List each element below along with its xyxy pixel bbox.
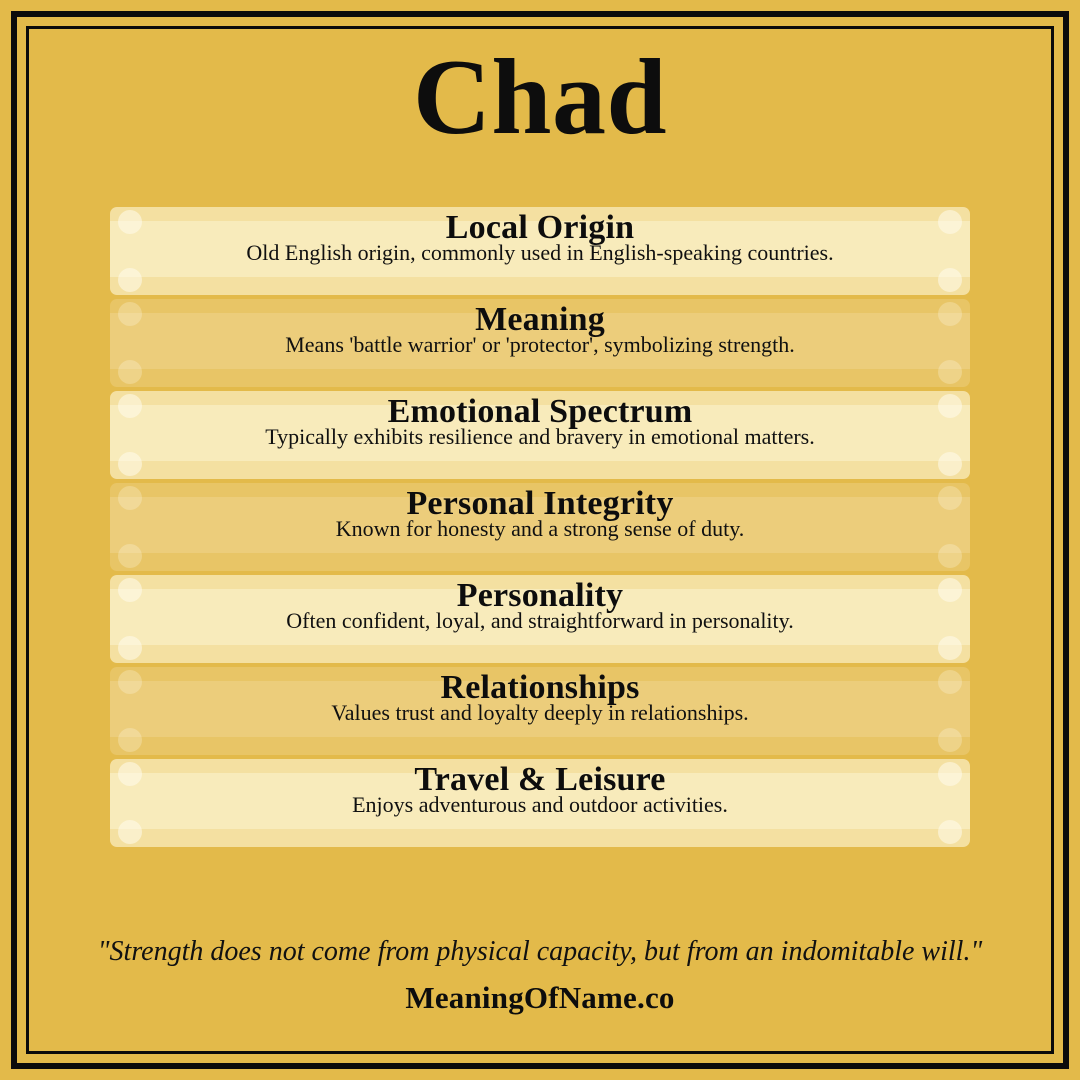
card-subtitle: Means 'battle warrior' or 'protector', s… [110,334,970,356]
attribute-card: PersonalityOften confident, loyal, and s… [110,575,970,663]
card-text-group: Personal IntegrityKnown for honesty and … [110,487,970,540]
attribute-card: Travel & LeisureEnjoys adventurous and o… [110,759,970,847]
rivet-icon [118,820,142,844]
rivet-icon [938,636,962,660]
attribute-card: Local OriginOld English origin, commonly… [110,207,970,295]
rivet-icon [118,728,142,752]
rivet-icon [938,268,962,292]
card-subtitle: Old English origin, commonly used in Eng… [110,242,970,264]
attribute-card: Emotional SpectrumTypically exhibits res… [110,391,970,479]
attribute-card: Personal IntegrityKnown for honesty and … [110,483,970,571]
rivet-icon [118,268,142,292]
card-text-group: PersonalityOften confident, loyal, and s… [110,579,970,632]
name-meaning-poster: Chad Local OriginOld English origin, com… [0,0,1080,1080]
rivet-icon [118,452,142,476]
card-text-group: MeaningMeans 'battle warrior' or 'protec… [110,303,970,356]
rivet-icon [938,728,962,752]
page-title: Chad [0,36,1080,160]
rivet-icon [938,452,962,476]
attribute-card-stack: Local OriginOld English origin, commonly… [110,207,970,851]
footer-brand: MeaningOfName.co [0,980,1080,1016]
rivet-icon [118,636,142,660]
rivet-icon [938,544,962,568]
attribute-card: RelationshipsValues trust and loyalty de… [110,667,970,755]
card-subtitle: Typically exhibits resilience and braver… [110,426,970,448]
rivet-icon [118,360,142,384]
card-text-group: Emotional SpectrumTypically exhibits res… [110,395,970,448]
footer-quote: "Strength does not come from physical ca… [60,935,1020,969]
card-text-group: RelationshipsValues trust and loyalty de… [110,671,970,724]
rivet-icon [938,820,962,844]
card-subtitle: Enjoys adventurous and outdoor activitie… [110,794,970,816]
card-subtitle: Often confident, loyal, and straightforw… [110,610,970,632]
rivet-icon [938,360,962,384]
card-subtitle: Known for honesty and a strong sense of … [110,518,970,540]
card-subtitle: Values trust and loyalty deeply in relat… [110,702,970,724]
rivet-icon [118,544,142,568]
attribute-card: MeaningMeans 'battle warrior' or 'protec… [110,299,970,387]
card-text-group: Local OriginOld English origin, commonly… [110,211,970,264]
card-text-group: Travel & LeisureEnjoys adventurous and o… [110,763,970,816]
